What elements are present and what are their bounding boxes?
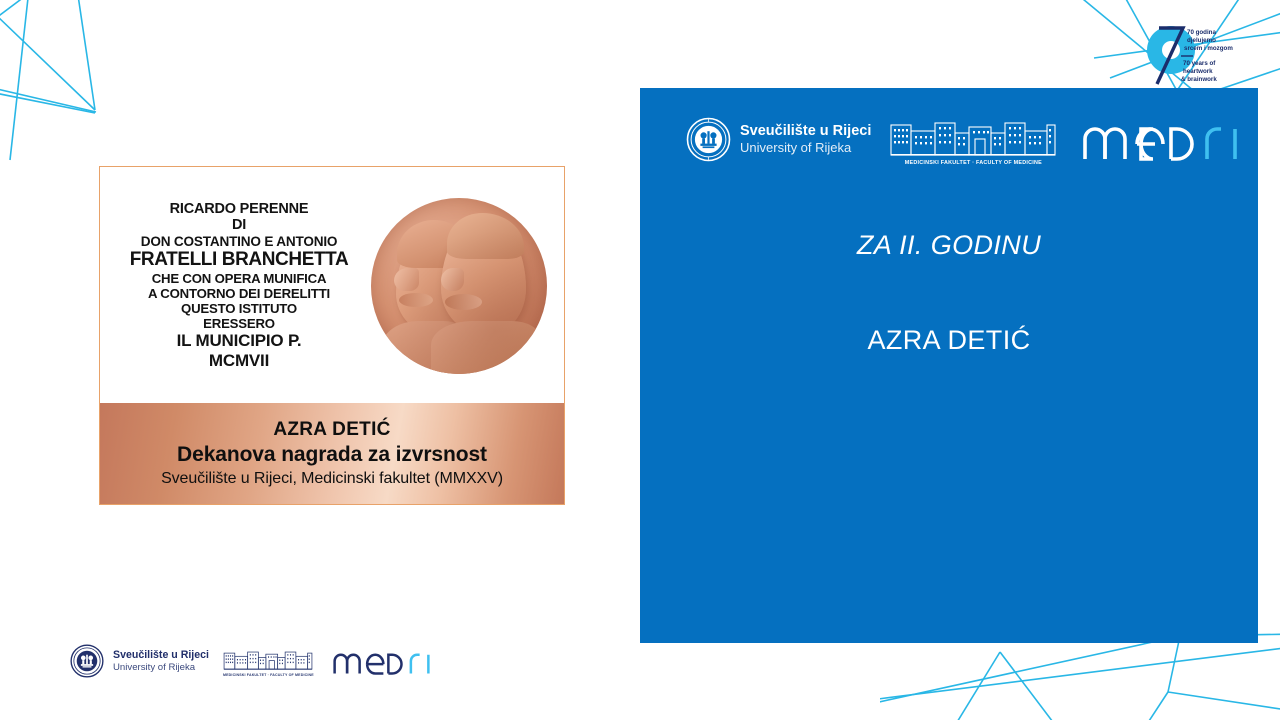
anniversary-logo: 70 godina djelujemo srcem i mozgom 70 ye… [1137,10,1267,92]
panel-logo-header: Sveučilište u Rijeci University of Rijek… [686,108,1228,170]
university-name-hr: Sveučilište u Rijeci [740,123,871,140]
award-plaque: RICARDO PERENNE DI DON COSTANTINO E ANTO… [99,166,565,505]
university-name-en: University of Rijeka [740,140,871,155]
svg-text:srcem i mozgom: srcem i mozgom [1184,45,1233,52]
medri-wordmark-icon [1081,115,1247,163]
footer-university-name-block: Sveučilište u Rijeci University of Rijek… [113,649,209,673]
slide-canvas: 70 godina djelujemo srcem i mozgom 70 ye… [0,0,1280,720]
svg-text:70 godina: 70 godina [1187,29,1216,36]
inscription-line-7: QUESTO ISTITUTO [114,301,364,316]
inscription-line-2: DI [114,217,364,234]
footer-faculty-caption: MEDICINSKI FAKULTET · FACULTY OF MEDICIN… [223,673,314,677]
decorative-lines-top-left [0,0,200,170]
footer-logo-strip: Sveučilište u Rijeci University of Rijek… [70,644,436,678]
blue-content-panel: Sveučilište u Rijeci University of Rijek… [640,88,1258,643]
svg-text:djelujemo: djelujemo [1187,37,1216,44]
inscription-line-3: DON COSTANTINO E ANTONIO [114,234,364,249]
portrait-medallion-icon [371,198,547,374]
plaque-upper-section: RICARDO PERENNE DI DON COSTANTINO E ANTO… [100,167,564,404]
footer-medri-wordmark-icon [332,646,436,676]
body-spacer [640,263,1258,323]
medri-logo-lockup [1081,115,1247,163]
faculty-caption: MEDICINSKI FAKULTET · FACULTY OF MEDICIN… [905,160,1042,166]
inscription-line-1: RICARDO PERENNE [114,201,364,218]
plaque-institution: Sveučilište u Rijeci, Medicinski fakulte… [161,470,503,488]
inscription-line-4: FRATELLI BRANCHETTA [114,249,364,271]
footer-faculty-lockup: MEDICINSKI FAKULTET · FACULTY OF MEDICIN… [223,646,314,677]
inscription-line-6: A CONTORNO DEI DERELITTI [114,286,364,301]
plaque-award-title: Dekanova nagrada za izvrsnost [177,442,487,467]
footer-university-lockup: Sveučilište u Rijeci University of Rijek… [70,644,209,678]
award-year-line: ZA II. GODINU [640,228,1258,263]
medallion-container [364,198,554,374]
svg-text:heartwork: heartwork [1183,68,1213,75]
plaque-inscription: RICARDO PERENNE DI DON COSTANTINO E ANTO… [114,201,364,370]
footer-university-name-hr: Sveučilište u Rijeci [113,649,209,662]
plaque-caption-band: AZRA DETIĆ Dekanova nagrada za izvrsnost… [100,403,564,504]
svg-text:70 years of: 70 years of [1183,60,1216,67]
faculty-logo-lockup: MEDICINSKI FAKULTET · FACULTY OF MEDICIN… [889,113,1057,166]
panel-body-text: ZA II. GODINU AZRA DETIĆ [640,228,1258,358]
university-crest-icon [686,117,731,162]
inscription-line-8: ERESSERO [114,316,364,331]
inscription-line-9: IL MUNICIPIO P. [114,331,364,350]
award-recipient-name: AZRA DETIĆ [640,323,1258,358]
footer-university-name-en: University of Rijeka [113,662,209,673]
svg-text:& brainwork: & brainwork [1181,76,1217,83]
faculty-building-icon [889,113,1057,159]
plaque-recipient-name: AZRA DETIĆ [273,419,390,441]
inscription-line-5: CHE CON OPERA MUNIFICA [114,271,364,286]
footer-university-crest-icon [70,644,104,678]
footer-faculty-building-icon [223,646,313,672]
university-logo-lockup: Sveučilište u Rijeci University of Rijek… [686,117,871,162]
inscription-line-10: MCMVII [114,351,364,370]
university-name-block: Sveučilište u Rijeci University of Rijek… [740,123,871,155]
medallion-shading [371,198,547,374]
